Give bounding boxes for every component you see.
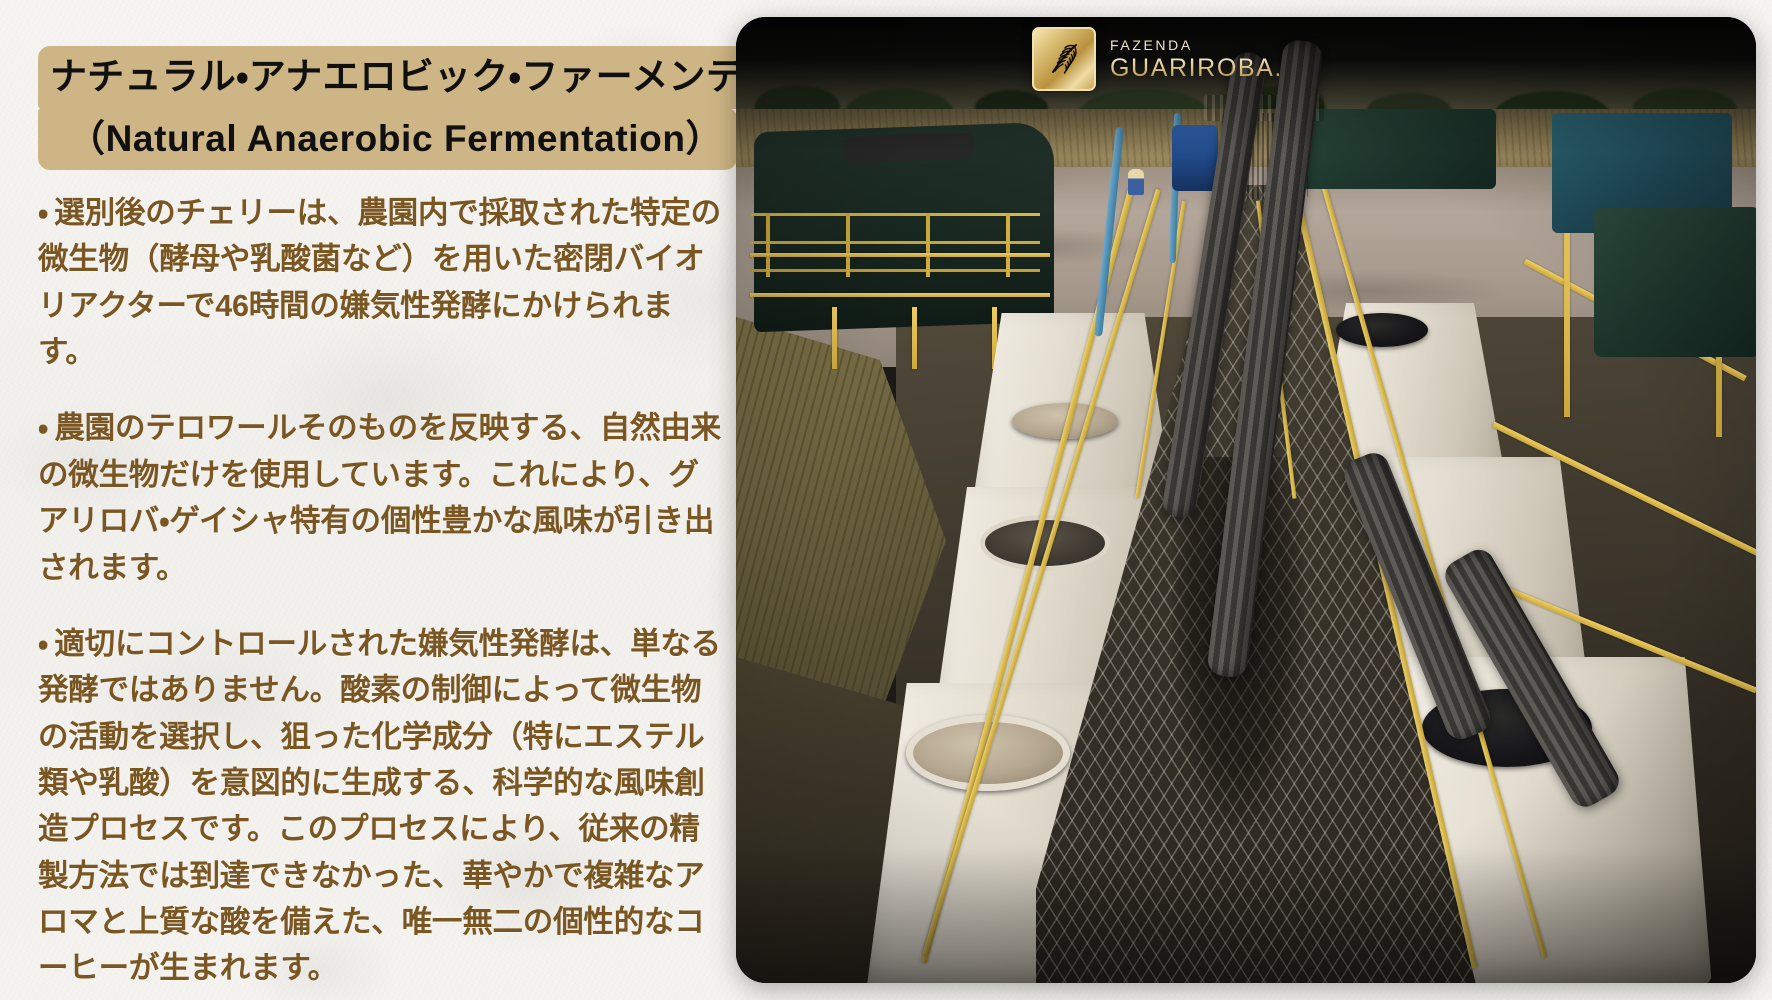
yellow-rail-post (912, 307, 917, 369)
bullet-marker-3: ・ (38, 627, 54, 661)
page-title: ナチュラル・アナエロビック・ファーメンテーション （Natural Anaero… (38, 46, 728, 170)
bullet-marker-2: ・ (38, 411, 54, 445)
bullet-text-2: 農園のテロワールそのものを反映する、自然由来の微生物だけを使用しています。これに… (38, 411, 721, 584)
yellow-rail-post (832, 307, 837, 369)
brand-logo: FAZENDA GUARIROBA. (1032, 27, 1283, 91)
palm-leaf-icon (1032, 27, 1096, 91)
brand-text: FAZENDA GUARIROBA. (1110, 38, 1283, 81)
tanker-railing-post (846, 213, 850, 277)
bullet-marker-1: ・ (38, 196, 54, 230)
bullet-paragraph-1: ・選別後のチェリーは、農園内で採取された特定の微生物（酵母や乳酸菌など）を用いた… (38, 190, 726, 375)
yellow-rail (750, 253, 1050, 257)
bullet-paragraph-3: ・適切にコントロールされた嫌気性発酵は、単なる発酵ではありません。酸素の制御によ… (38, 621, 726, 992)
green-machinery (1296, 109, 1496, 189)
brand-fazenda: FAZENDA (1110, 38, 1283, 52)
brand-guariroba: GUARIROBA. (1110, 56, 1283, 81)
green-machinery (1594, 207, 1756, 357)
bullet-text-1: 選別後のチェリーは、農園内で採取された特定の微生物（酵母や乳酸菌など）を用いた密… (38, 196, 721, 369)
bullet-text-3: 適切にコントロールされた嫌気性発酵は、単なる発酵ではありません。酸素の制御によっ… (38, 627, 721, 986)
title-line-english: （Natural Anaerobic Fermentation） (38, 108, 737, 171)
bullet-paragraph-2: ・農園のテロワールそのものを反映する、自然由来の微生物だけを使用しています。これ… (38, 405, 726, 590)
photo-frame: FAZENDA GUARIROBA. (736, 17, 1756, 983)
tanker-railing (750, 213, 1040, 216)
left-content-column: ナチュラル・アナエロビック・ファーメンテーション （Natural Anaero… (0, 0, 738, 1000)
yellow-rail (750, 293, 1050, 297)
blue-barrel (1172, 125, 1218, 191)
tanker-railing-post (1006, 213, 1010, 277)
worker-figure (1128, 169, 1144, 195)
slide-root: ナチュラル・アナエロビック・ファーメンテーション （Natural Anaero… (0, 0, 1772, 1000)
tanker-railing-post (926, 213, 930, 277)
tank-lid (1336, 313, 1428, 347)
tanker-hatch (844, 133, 974, 164)
body-text-block: ・選別後のチェリーは、農園内で採取された特定の微生物（酵母や乳酸菌など）を用いた… (38, 190, 726, 992)
farm-fermentation-photo: FAZENDA GUARIROBA. (736, 17, 1756, 983)
tanker-railing-post (766, 213, 770, 277)
